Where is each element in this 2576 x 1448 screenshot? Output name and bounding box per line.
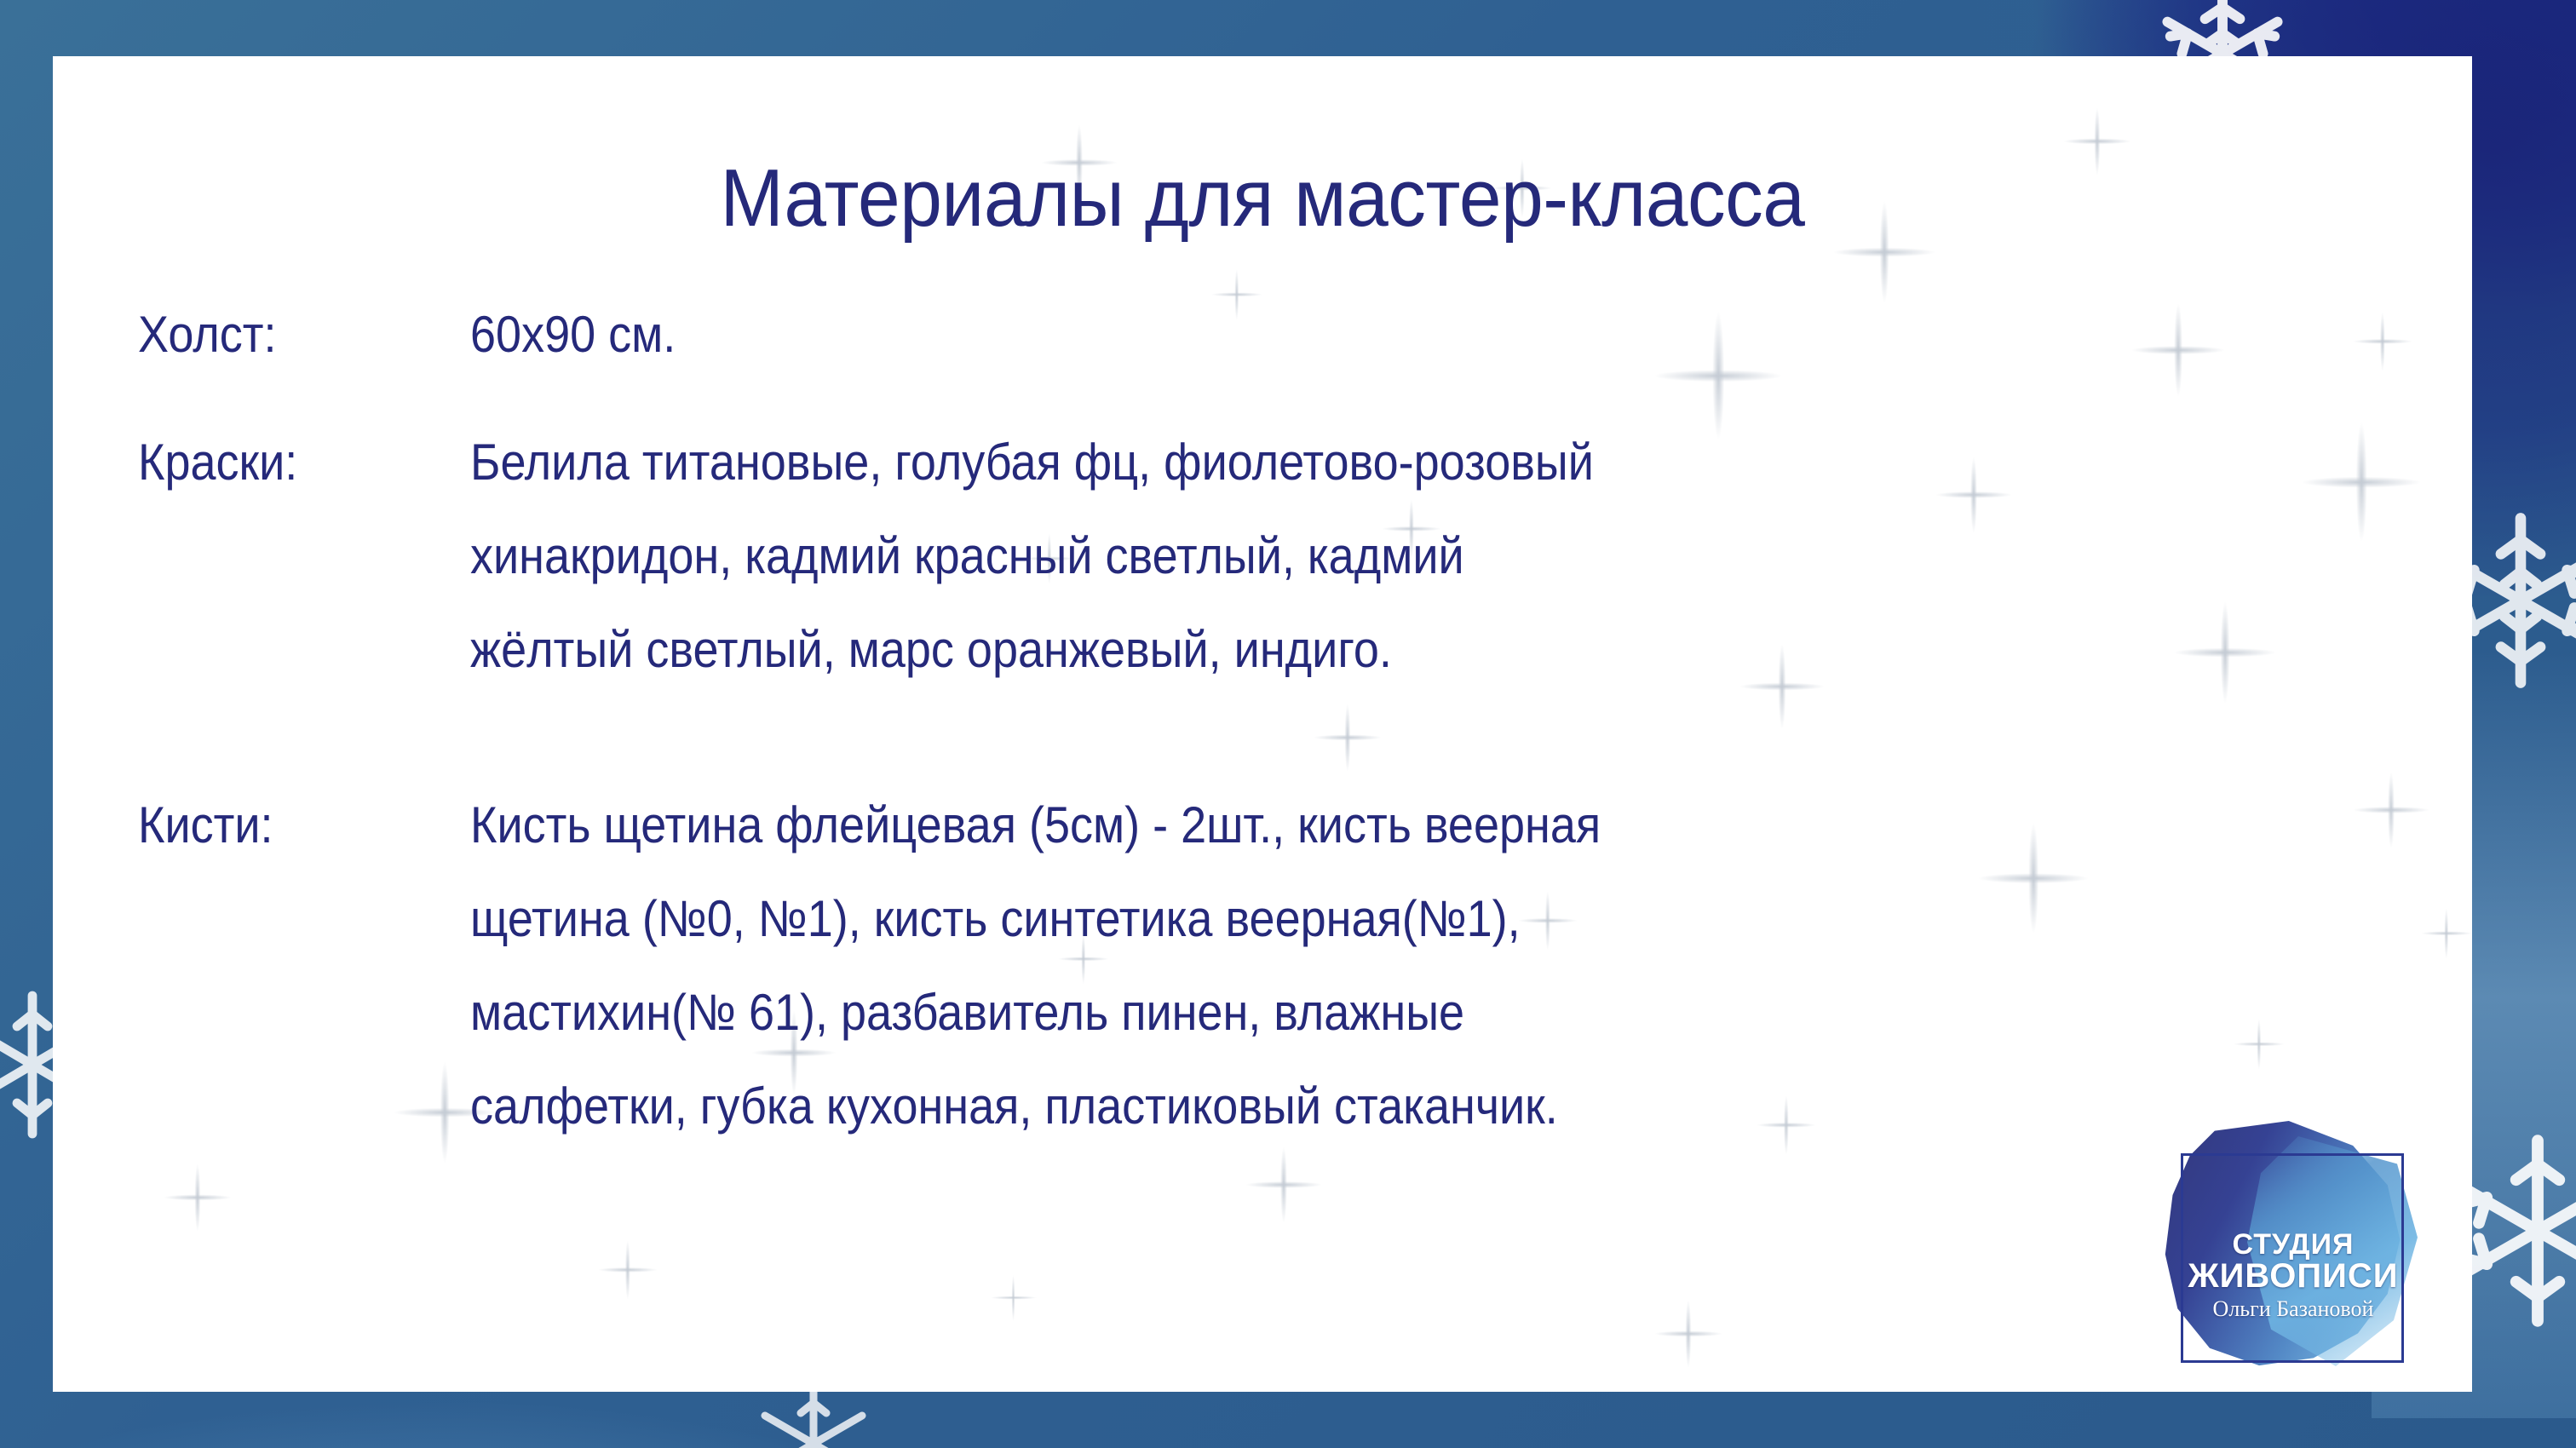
row-value-line: Кисть щетина флейцевая (5см) - 2шт., кис… — [470, 779, 2180, 872]
row-value-line: салфетки, губка кухонная, пластиковый ст… — [470, 1060, 2180, 1153]
row-label-paints: Краски: — [138, 416, 437, 509]
row-value-canvas: 60х90 см. — [470, 288, 2180, 382]
sparkle-icon — [598, 1240, 658, 1300]
page-title: Материалы для мастер-класса — [137, 152, 2387, 245]
row-value-line: Белила титановые, голубая фц, фиолетово-… — [470, 416, 2180, 509]
row-value-brushes: Кисть щетина флейцевая (5см) - 2шт., кис… — [470, 779, 2180, 1153]
materials-row-brushes: Кисти: Кисть щетина флейцевая (5см) - 2ш… — [138, 779, 2370, 1153]
sparkle-icon — [1245, 1146, 1322, 1223]
logo-line-3: Ольги Базановой — [2165, 1298, 2421, 1320]
materials-list: Холст: 60х90 см. Краски: Белила титановы… — [138, 288, 2370, 1153]
row-value-line: 60х90 см. — [470, 288, 2180, 382]
logo-text: СТУДИЯ ЖИВОПИСИ Ольги Базановой — [2165, 1230, 2421, 1320]
materials-row-canvas: Холст: 60х90 см. — [138, 288, 2370, 382]
sparkle-icon — [990, 1274, 1037, 1321]
sparkle-icon — [164, 1164, 232, 1232]
row-value-line: хинакридон, кадмий красный светлый, кадм… — [470, 509, 2180, 603]
materials-row-paints: Краски: Белила титановые, голубая фц, фи… — [138, 416, 2370, 697]
row-value-line: жёлтый светлый, марс оранжевый, индиго. — [470, 603, 2180, 697]
content-card: Материалы для мастер-класса Холст: 60х90… — [53, 56, 2472, 1392]
sparkle-icon — [2421, 908, 2472, 959]
sparkle-icon — [1654, 1300, 1722, 1368]
row-label-brushes: Кисти: — [138, 779, 437, 872]
studio-logo: СТУДИЯ ЖИВОПИСИ Ольги Базановой — [2165, 1102, 2421, 1375]
row-value-line: мастихин(№ 61), разбавитель пинен, влажн… — [470, 966, 2180, 1060]
slide-root: Материалы для мастер-класса Холст: 60х90… — [0, 0, 2576, 1448]
row-value-line: щетина (№0, №1), кисть синтетика веерная… — [470, 872, 2180, 966]
logo-line-2: ЖИВОПИСИ — [2165, 1259, 2421, 1293]
logo-line-1: СТУДИЯ — [2165, 1230, 2421, 1259]
row-label-canvas: Холст: — [138, 288, 437, 382]
row-value-paints: Белила титановые, голубая фц, фиолетово-… — [470, 416, 2180, 697]
